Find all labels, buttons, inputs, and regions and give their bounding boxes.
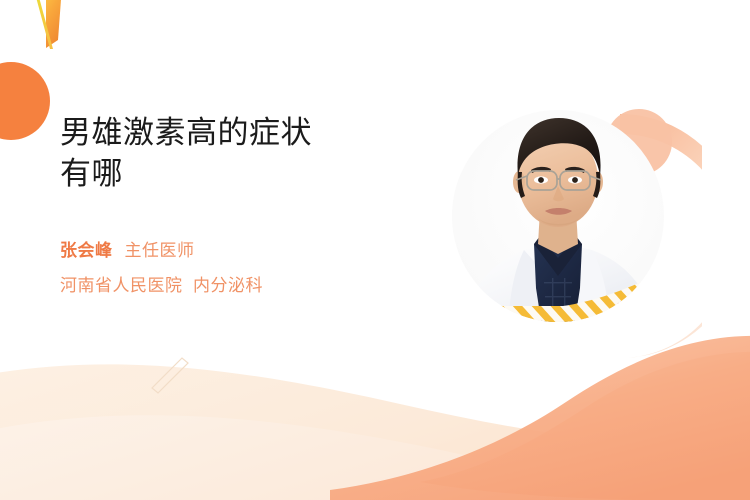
orange-circle-decoration <box>0 62 50 140</box>
peach-wave-bottom-left <box>0 364 750 500</box>
text-block: 男雄激素高的症状 有哪 张会峰主任医师 河南省人民医院 内分泌科 <box>60 112 410 296</box>
faint-diagonal-dash <box>152 358 188 393</box>
doctor-name: 张会峰 <box>60 241 113 260</box>
portrait-cluster <box>452 92 702 372</box>
doctor-byline: 张会峰主任医师 <box>60 242 410 261</box>
pupil-left <box>538 177 544 183</box>
page-title: 男雄激素高的症状 有哪 <box>60 112 410 194</box>
diagonal-stroke-decoration <box>0 0 130 66</box>
pupil-right <box>572 177 578 183</box>
doctor-affiliation: 河南省人民医院 内分泌科 <box>60 277 410 296</box>
doctor-title: 主任医师 <box>125 241 195 260</box>
diagonal-strokes-svg <box>0 0 130 70</box>
video-cover-card: 男雄激素高的症状 有哪 张会峰主任医师 河南省人民医院 内分泌科 <box>0 0 750 500</box>
peach-wave-mid <box>0 415 750 500</box>
portrait-svg <box>452 92 702 382</box>
